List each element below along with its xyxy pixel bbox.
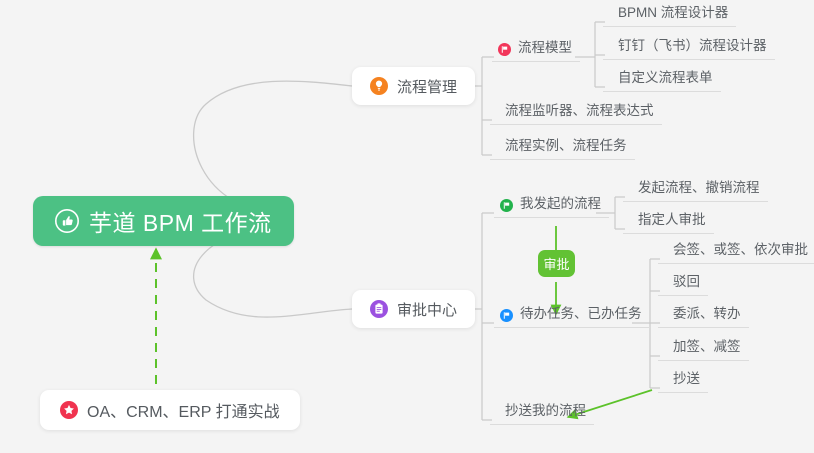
flag-icon-blue xyxy=(500,309,513,322)
node-process-instance[interactable]: 流程实例、流程任务 xyxy=(490,138,635,160)
link-root-to-process-management xyxy=(194,81,352,213)
node-cc-to-me[interactable]: 抄送我的流程 xyxy=(490,403,594,425)
flag-icon-green xyxy=(500,199,513,212)
leaf-bpmn-designer[interactable]: BPMN 流程设计器 xyxy=(603,5,736,27)
node-todo-done-tasks[interactable]: 待办任务、已办任务 xyxy=(494,306,650,328)
lightbulb-pin-icon xyxy=(370,77,388,95)
mindmap-canvas: 芋道 BPM 工作流 OA、CRM、ERP 打通实战 流程管理 xyxy=(0,0,814,453)
node-label-cc-to-me: 抄送我的流程 xyxy=(505,399,586,419)
leaf-label: 加签、减签 xyxy=(673,335,741,355)
leaf-label: 钉钉（飞书）流程设计器 xyxy=(618,34,767,54)
root-node[interactable]: 芋道 BPM 工作流 xyxy=(33,196,294,246)
leaf-assignee-approval[interactable]: 指定人审批 xyxy=(623,212,714,234)
node-process-model[interactable]: 流程模型 xyxy=(492,40,580,62)
root-node-label: 芋道 BPM 工作流 xyxy=(89,204,272,238)
flag-icon-red xyxy=(498,43,511,56)
node-label: 流程监听器、流程表达式 xyxy=(505,99,654,119)
integration-node[interactable]: OA、CRM、ERP 打通实战 xyxy=(40,390,300,430)
leaf-label: 指定人审批 xyxy=(638,208,706,228)
leaf-reject[interactable]: 驳回 xyxy=(658,274,708,296)
leaf-dingtalk-designer[interactable]: 钉钉（飞书）流程设计器 xyxy=(603,38,775,60)
thumbs-up-icon xyxy=(55,209,79,233)
leaf-label: 会签、或签、依次审批 xyxy=(673,238,808,258)
leaf-label: 发起流程、撤销流程 xyxy=(638,176,760,196)
branch-node-approval-center[interactable]: 审批中心 xyxy=(352,290,475,328)
node-label-todo-done-tasks: 待办任务、已办任务 xyxy=(520,302,642,322)
approval-flow-tag: 审批 xyxy=(538,250,575,277)
leaf-custom-form[interactable]: 自定义流程表单 xyxy=(603,70,721,92)
clipboard-icon xyxy=(370,300,388,318)
integration-node-label: OA、CRM、ERP 打通实战 xyxy=(87,398,280,422)
node-my-initiated[interactable]: 我发起的流程 xyxy=(494,196,609,218)
leaf-countersign[interactable]: 会签、或签、依次审批 xyxy=(658,242,814,264)
node-process-listener[interactable]: 流程监听器、流程表达式 xyxy=(490,103,662,125)
leaf-label: 驳回 xyxy=(673,270,700,290)
node-label-process-model: 流程模型 xyxy=(518,36,572,56)
leaf-label: 自定义流程表单 xyxy=(618,66,713,86)
leaf-cc[interactable]: 抄送 xyxy=(658,371,708,393)
branch-node-process-management[interactable]: 流程管理 xyxy=(352,67,475,105)
approval-flow-tag-label: 审批 xyxy=(544,254,570,273)
node-label: 流程实例、流程任务 xyxy=(505,134,627,154)
leaf-label: 委派、转办 xyxy=(673,302,741,322)
branch-label-approval-center: 审批中心 xyxy=(397,299,457,320)
leaf-add-remove-sign[interactable]: 加签、减签 xyxy=(658,339,749,361)
leaf-label: BPMN 流程设计器 xyxy=(618,1,728,21)
leaf-delegate-transfer[interactable]: 委派、转办 xyxy=(658,306,749,328)
branch-label-process-management: 流程管理 xyxy=(397,76,457,97)
star-icon xyxy=(60,401,78,419)
node-label-my-initiated: 我发起的流程 xyxy=(520,192,601,212)
leaf-label: 抄送 xyxy=(673,367,700,387)
leaf-start-cancel-process[interactable]: 发起流程、撤销流程 xyxy=(623,180,768,202)
